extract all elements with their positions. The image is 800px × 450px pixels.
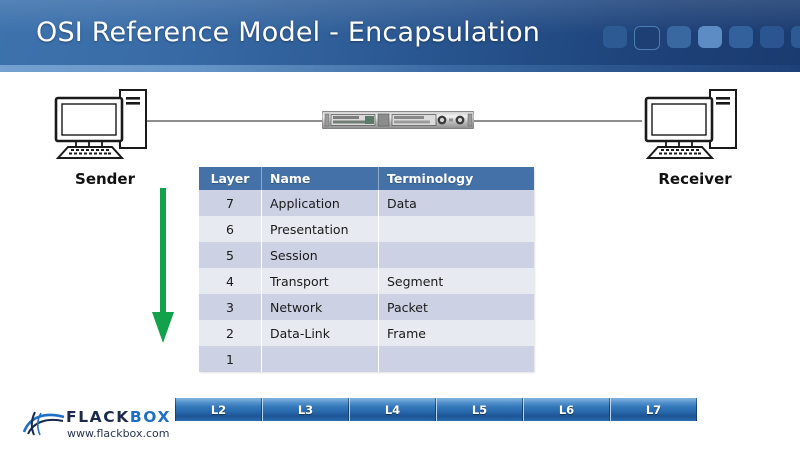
column-header-terminology: Terminology [379, 167, 535, 190]
cell-layer: 4 [199, 268, 262, 294]
cell-layer: 2 [199, 320, 262, 346]
cell-layer: 6 [199, 216, 262, 242]
header-square-7-icon [791, 26, 800, 48]
cell-layer: 1 [199, 346, 262, 372]
cell-terminology [379, 242, 535, 268]
cell-terminology [379, 216, 535, 242]
header-square-4-icon [698, 26, 722, 48]
cell-layer: 3 [199, 294, 262, 320]
encapsulation-direction-arrow-icon [150, 188, 176, 343]
cable-router-to-receiver [472, 120, 642, 122]
table-row-layer-1: 1 [199, 346, 534, 372]
flackbox-swoosh-icon [22, 410, 66, 436]
table-row-layer-7: 7 Application Data [199, 190, 534, 216]
table-row-layer-6: 6 Presentation [199, 216, 534, 242]
table-row-layer-3: 3 Network Packet [199, 294, 534, 320]
computer-icon [640, 88, 750, 160]
receiver-label: Receiver [640, 170, 750, 188]
column-header-name: Name [262, 167, 379, 190]
layer-bar-segment-l2: L2 [175, 398, 262, 421]
table-row-layer-2: 2 Data-Link Frame [199, 320, 534, 346]
header-square-6-icon [760, 26, 784, 48]
table-row-layer-4: 4 Transport Segment [199, 268, 534, 294]
cell-terminology: Frame [379, 320, 535, 346]
cable-sender-to-router [147, 120, 325, 122]
slide-header: OSI Reference Model - Encapsulation [0, 0, 800, 72]
flackbox-logo: FLACKBOX www.flackbox.com [22, 406, 182, 444]
header-square-2-icon [634, 26, 660, 50]
layer-bar-segment-l3: L3 [262, 398, 349, 421]
cell-name [262, 346, 379, 372]
logo-url: www.flackbox.com [67, 427, 169, 440]
cell-name: Application [262, 190, 379, 216]
header-square-3-icon [667, 26, 691, 48]
header-square-5-icon [729, 26, 753, 48]
sender-node: Sender [50, 88, 160, 188]
cell-name: Data-Link [262, 320, 379, 346]
logo-word-box: BOX [130, 408, 171, 426]
cell-terminology: Packet [379, 294, 535, 320]
column-header-layer: Layer [199, 167, 262, 190]
cell-layer: 7 [199, 190, 262, 216]
cell-name: Presentation [262, 216, 379, 242]
flackbox-wordmark: FLACKBOX [66, 408, 171, 426]
receiver-node: Receiver [640, 88, 750, 188]
table-header-row: Layer Name Terminology [199, 167, 534, 190]
cell-name: Network [262, 294, 379, 320]
osi-layers-table: Layer Name Terminology 7 Application Dat… [199, 167, 534, 372]
layer-bar-segment-l5: L5 [436, 398, 523, 421]
computer-icon [50, 88, 160, 160]
cell-layer: 5 [199, 242, 262, 268]
layer-bar-segment-l4: L4 [349, 398, 436, 421]
logo-word-flack: FLACK [66, 408, 130, 426]
cell-terminology: Data [379, 190, 535, 216]
cell-name: Session [262, 242, 379, 268]
router-icon [322, 110, 474, 130]
header-decoration-squares [603, 26, 800, 50]
page-title: OSI Reference Model - Encapsulation [36, 17, 540, 48]
table-row-layer-5: 5 Session [199, 242, 534, 268]
cell-name: Transport [262, 268, 379, 294]
layer-bar-segment-l6: L6 [523, 398, 610, 421]
cell-terminology: Segment [379, 268, 535, 294]
layer-bar: L2 L3 L4 L5 L6 L7 [175, 398, 697, 421]
cell-terminology [379, 346, 535, 372]
layer-bar-segment-l7: L7 [610, 398, 697, 421]
slide: OSI Reference Model - Encapsulation [0, 0, 800, 450]
header-square-1-icon [603, 26, 627, 48]
sender-label: Sender [50, 170, 160, 188]
